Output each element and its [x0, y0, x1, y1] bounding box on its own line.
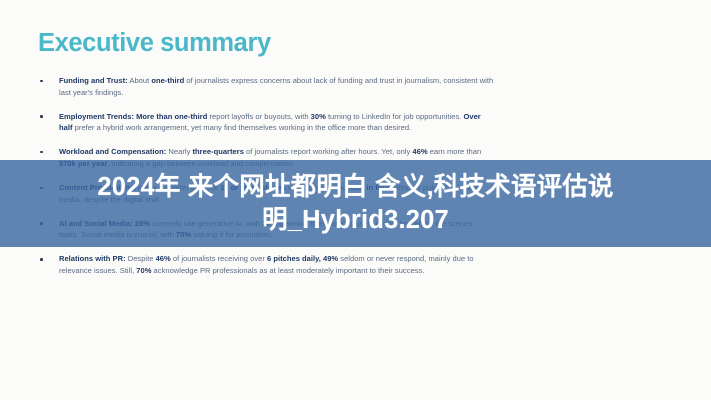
list-item-lead: Relations with PR:	[59, 254, 126, 263]
body-text: About	[128, 76, 152, 85]
list-item-lead: Employment Trends: More than one-third	[59, 112, 207, 121]
body-text: turning to LinkedIn for job opportunitie…	[326, 112, 464, 121]
emphasis-text: 46%	[156, 254, 171, 263]
page-title: Executive summary	[38, 29, 271, 58]
body-text: of journalists receiving over	[171, 254, 267, 263]
bullet-dot-icon	[40, 115, 43, 118]
emphasis-text: 46%	[412, 147, 427, 156]
emphasis-text: 6 pitches daily, 49%	[267, 254, 338, 263]
body-text: report layoffs or buyouts, with	[207, 112, 310, 121]
list-item-text: Relations with PR: Despite 46% of journa…	[59, 253, 494, 276]
list-item: Employment Trends: More than one-third r…	[36, 111, 494, 134]
list-item-text: Funding and Trust: About one-third of jo…	[59, 75, 494, 98]
list-item-text: Employment Trends: More than one-third r…	[59, 111, 494, 134]
emphasis-text: 30%	[311, 112, 326, 121]
emphasis-text: 70%	[136, 266, 151, 275]
overlay-text-line-1: 2024年 来个网址都明白 含义,科技术语评估说	[97, 171, 613, 204]
overlay-text-line-2: 明_Hybrid3.207	[262, 204, 449, 237]
emphasis-text: one-third	[151, 76, 184, 85]
body-text: of journalists report working after hour…	[244, 147, 412, 156]
list-item: Funding and Trust: About one-third of jo…	[36, 75, 494, 98]
body-text: acknowledge PR professionals as at least…	[151, 266, 424, 275]
body-text: earn more than	[428, 147, 482, 156]
body-text: Despite	[126, 254, 156, 263]
body-text: prefer a hybrid work arrangement, yet ma…	[73, 123, 412, 132]
emphasis-text: three-quarters	[192, 147, 243, 156]
slide-canvas: Executive summary Funding and Trust: Abo…	[0, 0, 711, 400]
list-item: Relations with PR: Despite 46% of journa…	[36, 253, 494, 276]
bullet-dot-icon	[40, 258, 43, 261]
bullet-dot-icon	[40, 80, 43, 83]
list-item-lead: Workload and Compensation:	[59, 147, 166, 156]
list-item-lead: Funding and Trust:	[59, 76, 128, 85]
bullet-dot-icon	[40, 151, 43, 154]
overlay-watermark-banner: 2024年 来个网址都明白 含义,科技术语评估说 明_Hybrid3.207	[0, 160, 711, 247]
body-text: Nearly	[166, 147, 192, 156]
